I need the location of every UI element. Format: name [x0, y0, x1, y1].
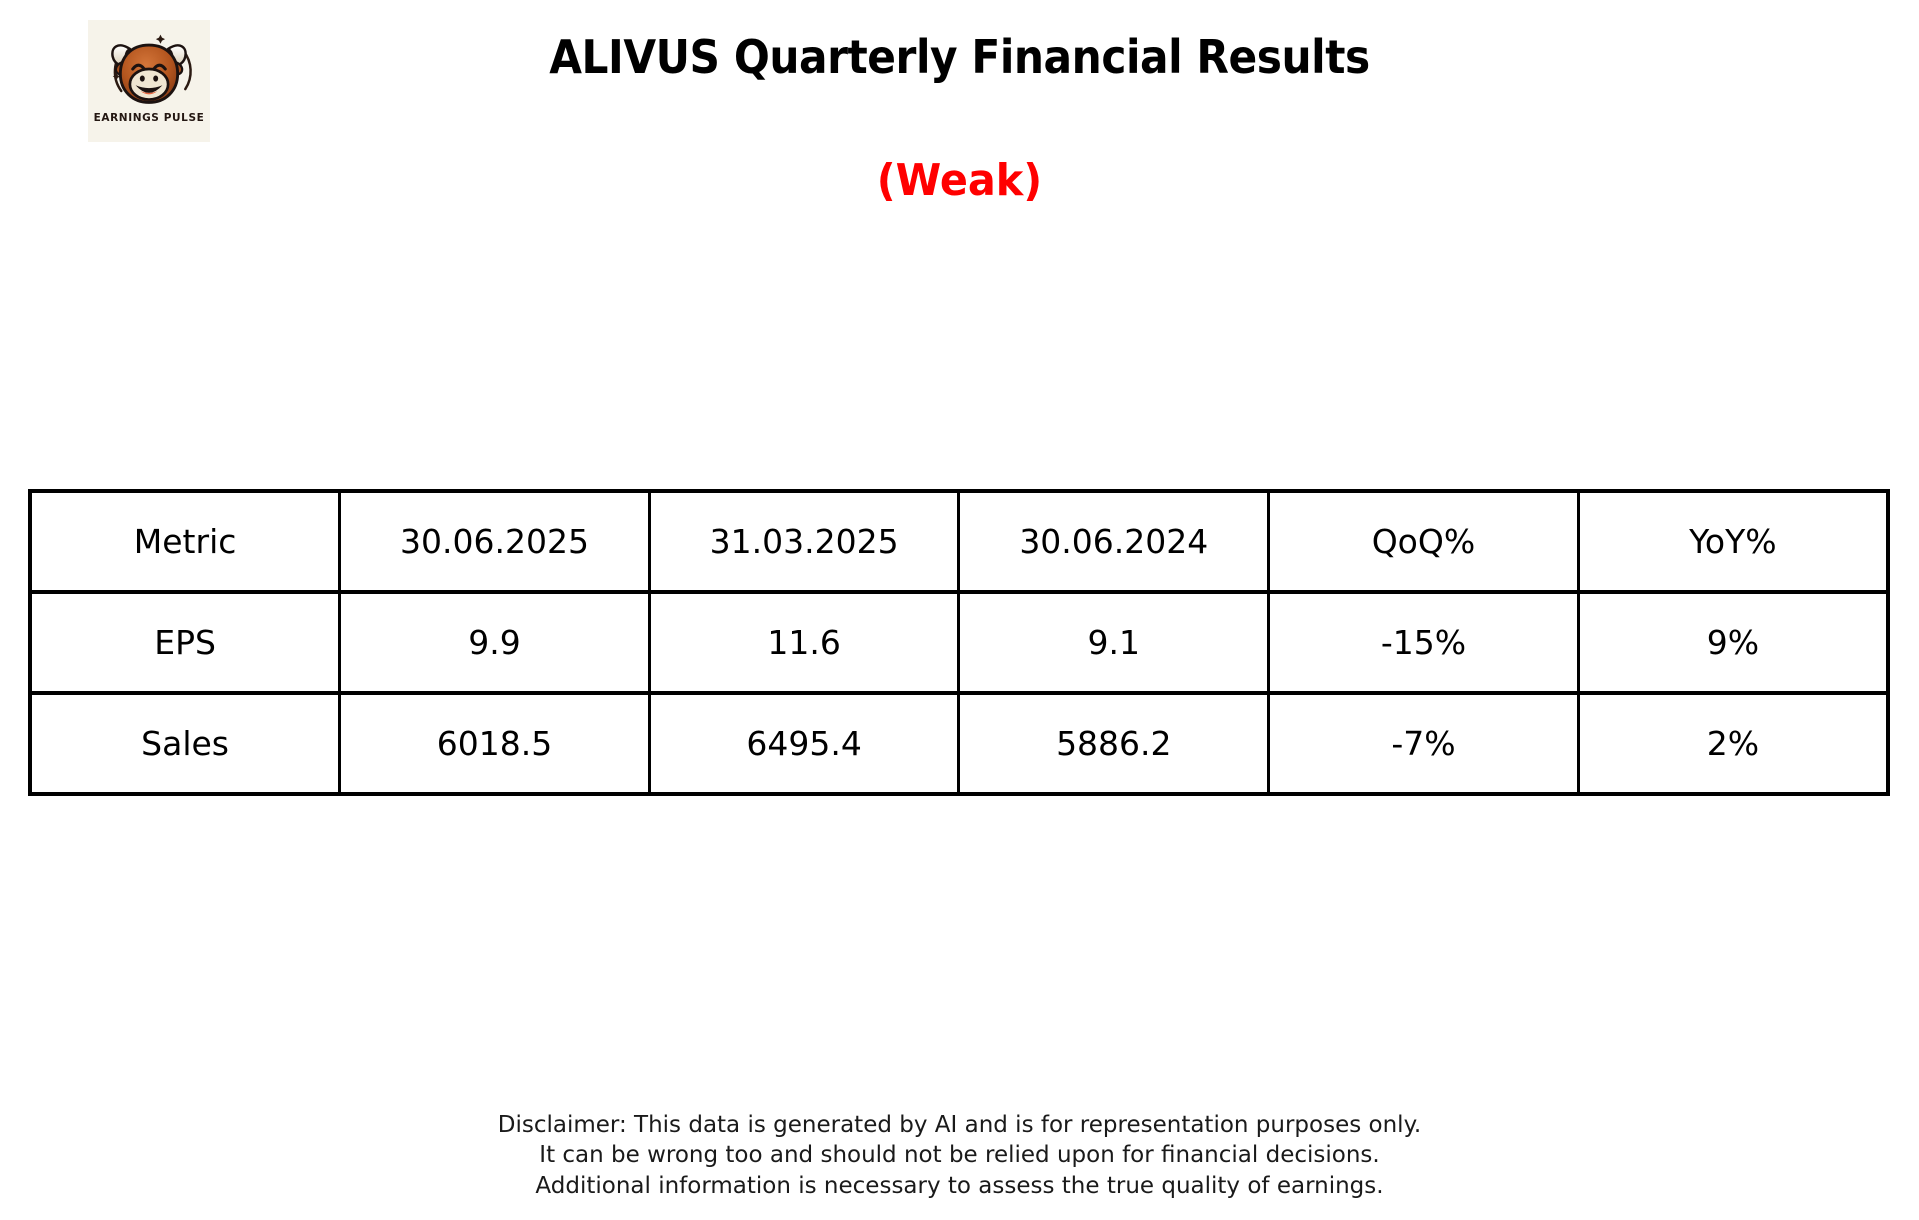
page-title: ALIVUS Quarterly Financial Results	[77, 30, 1842, 84]
row-label-sales: Sales	[30, 693, 340, 794]
disclaimer-line-1: Disclaimer: This data is generated by AI…	[0, 1110, 1919, 1140]
column-header-current-quarter: 30.06.2025	[340, 491, 650, 592]
table-row: EPS 9.9 11.6 9.1 -15% 9%	[30, 592, 1888, 693]
table-header-row: Metric 30.06.2025 31.03.2025 30.06.2024 …	[30, 491, 1888, 592]
sales-prev-year: 5886.2	[959, 693, 1269, 794]
sales-yoy: 2%	[1578, 693, 1888, 794]
table-row: Sales 6018.5 6495.4 5886.2 -7% 2%	[30, 693, 1888, 794]
disclaimer: Disclaimer: This data is generated by AI…	[0, 1110, 1919, 1201]
eps-prev-quarter: 11.6	[649, 592, 959, 693]
disclaimer-line-2: It can be wrong too and should not be re…	[0, 1140, 1919, 1170]
column-header-prev-year: 30.06.2024	[959, 491, 1269, 592]
disclaimer-line-3: Additional information is necessary to a…	[0, 1171, 1919, 1201]
column-header-qoq: QoQ%	[1269, 491, 1579, 592]
sales-qoq: -7%	[1269, 693, 1579, 794]
eps-yoy: 9%	[1578, 592, 1888, 693]
eps-qoq: -15%	[1269, 592, 1579, 693]
brand-logo-caption: EARNINGS PULSE	[94, 113, 205, 124]
column-header-metric: Metric	[30, 491, 340, 592]
financial-results-table: Metric 30.06.2025 31.03.2025 30.06.2024 …	[28, 489, 1890, 796]
column-header-prev-quarter: 31.03.2025	[649, 491, 959, 592]
eps-current-quarter: 9.9	[340, 592, 650, 693]
results-verdict-subtitle: (Weak)	[58, 155, 1862, 206]
sales-current-quarter: 6018.5	[340, 693, 650, 794]
column-header-yoy: YoY%	[1578, 491, 1888, 592]
eps-prev-year: 9.1	[959, 592, 1269, 693]
sales-prev-quarter: 6495.4	[649, 693, 959, 794]
row-label-eps: EPS	[30, 592, 340, 693]
